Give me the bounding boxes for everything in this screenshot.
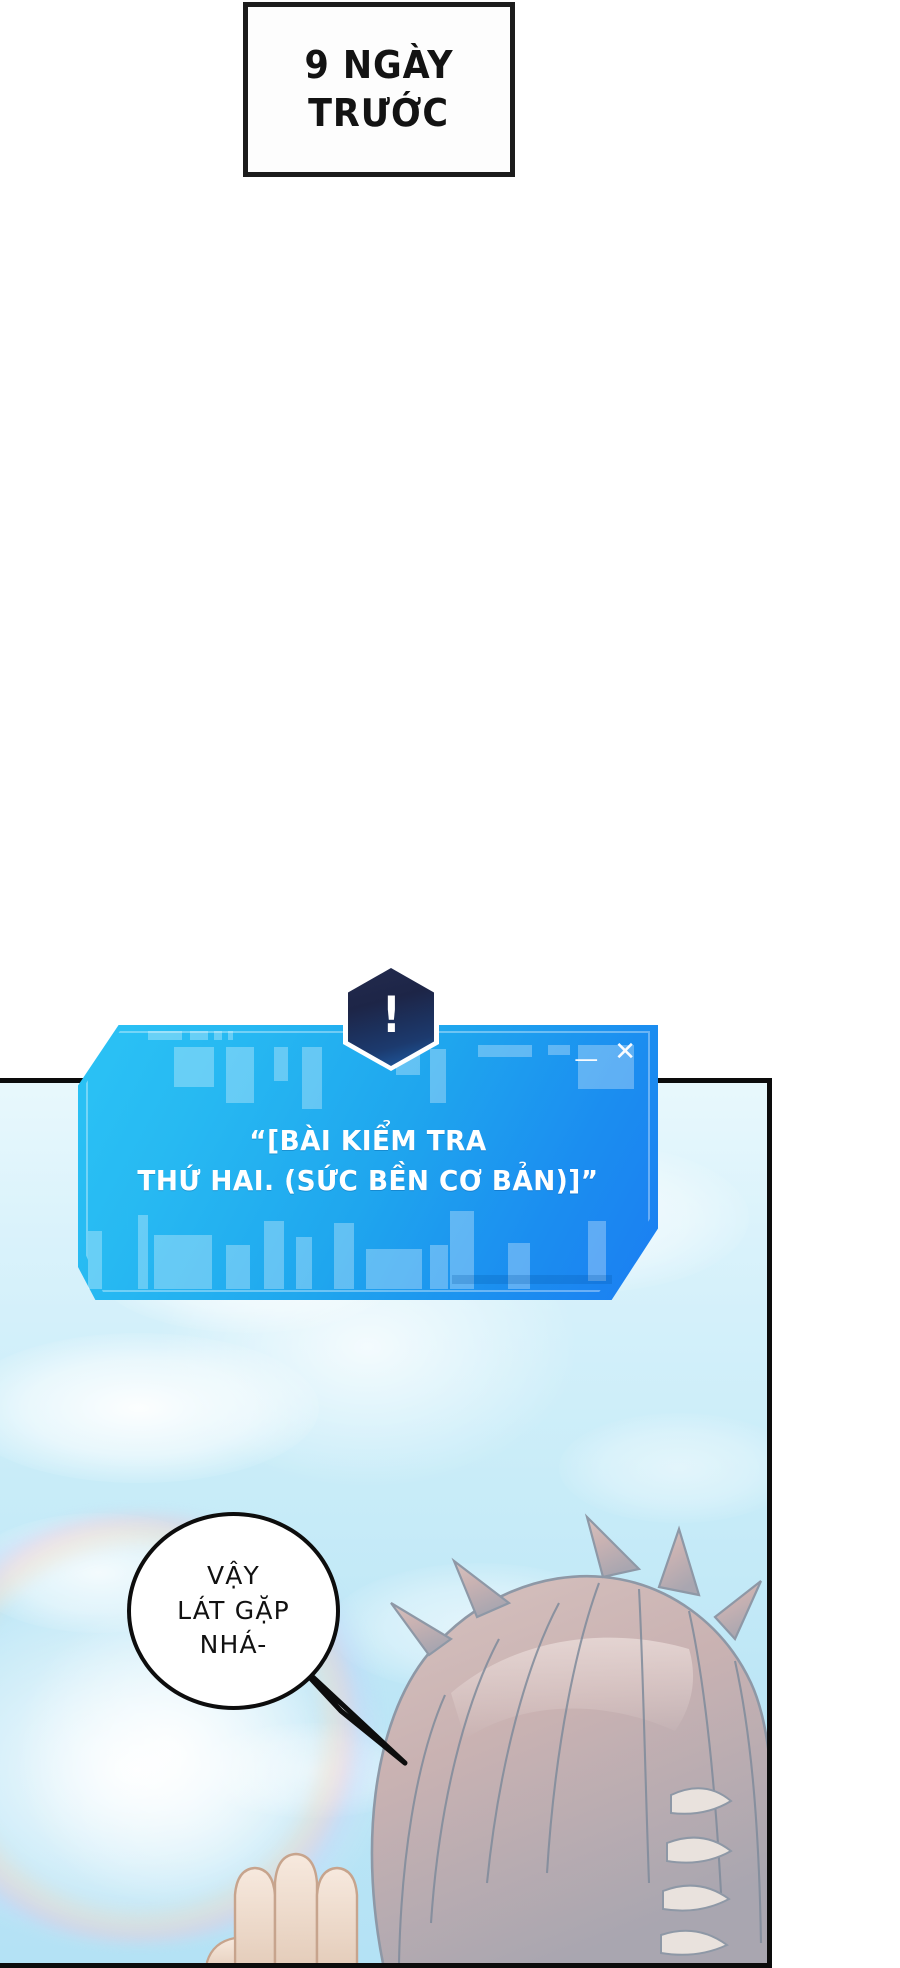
system-message-line-1: “[BÀI KIỂM TRA	[95, 1121, 640, 1161]
page-root: 9 NGÀY TRƯỚC	[0, 0, 900, 1961]
hair	[372, 1517, 772, 1968]
hand	[207, 1854, 357, 1968]
system-dialog[interactable]: ! — ✕ “[BÀI KIỂM TRA THỨ HAI. (SỨC BỀN C…	[78, 1025, 658, 1300]
system-message: “[BÀI KIỂM TRA THỨ HAI. (SỨC BỀN CƠ BẢN)…	[95, 1121, 640, 1201]
time-caption-box: 9 NGÀY TRƯỚC	[243, 2, 515, 177]
warning-hexagon-icon: !	[343, 963, 439, 1071]
time-caption-line-1: 9 NGÀY	[304, 46, 453, 86]
window-controls[interactable]: — ✕	[574, 1039, 636, 1065]
system-message-line-2: THỨ HAI. (SỨC BỀN CƠ BẢN)]”	[95, 1161, 640, 1201]
speech-line-2: LÁT GẶP	[177, 1594, 290, 1629]
speech-line-1: VẬY	[207, 1559, 260, 1594]
speech-line-3: NHÁ-	[200, 1628, 268, 1663]
time-caption-line-2: TRƯỚC	[309, 94, 450, 134]
close-icon[interactable]: ✕	[614, 1039, 636, 1065]
exclamation-glyph: !	[382, 990, 400, 1040]
speech-bubble: VẬY LÁT GẶP NHÁ-	[127, 1512, 340, 1710]
minimize-icon[interactable]: —	[574, 1047, 598, 1071]
